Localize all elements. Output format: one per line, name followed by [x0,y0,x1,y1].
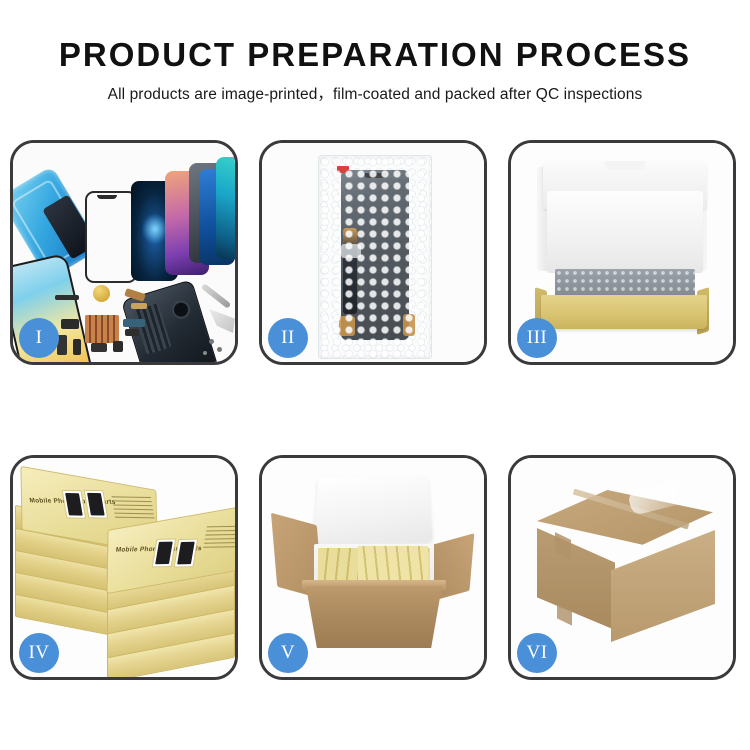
tweezers-tool [209,309,235,333]
foam-lid [313,477,433,543]
box-window-graphic [152,539,177,568]
glass-panel-phone [85,191,137,283]
process-step-1: I [10,140,238,365]
yellow-box-tray [541,295,707,329]
box-spec-lines [202,526,235,557]
speaker-part [93,285,110,302]
process-step-6: VI [508,455,736,680]
screen-connector [403,314,415,336]
step-badge-1: I [19,318,59,358]
phone-notch [364,173,386,178]
screw-part [209,339,214,344]
process-step-2: II [259,140,487,365]
box-window-graphic [84,490,109,519]
process-step-4: Mobile Phone Spare Parts Mobile Phone Sp… [10,455,238,680]
step-badge-6: VI [517,633,557,673]
module-part [61,319,79,329]
screen-connector [339,316,355,336]
connector-part [125,329,139,336]
qc-sticker [337,166,349,173]
box-window-graphic [174,539,199,568]
step-badge-4: IV [19,633,59,673]
bubble-wrap-bag [318,155,432,359]
screen-ic-chip [341,244,361,258]
box-window-graphic [62,490,87,519]
slim-flex-part [73,339,81,355]
vibrator-part [113,341,123,352]
chip-array-part [85,315,119,343]
product-preparation-infographic: PRODUCT PREPARATION PROCESS All products… [0,0,750,750]
carton-right-face [611,530,715,642]
screw-part [203,351,207,355]
carton-front-panel [306,586,442,648]
blue-ribbon-part [123,319,145,327]
flex-cable-part [55,295,79,300]
screwdriver-tool [201,283,231,309]
process-step-5: V [259,455,487,680]
screw-part [217,347,222,352]
step-badge-3: III [517,318,557,358]
screen-flex-cable [343,228,357,314]
process-step-grid: I II [0,0,750,750]
step-badge-2: II [268,318,308,358]
process-step-3: III [508,140,736,365]
step-badge-5: V [268,633,308,673]
carton-left-face [537,528,615,630]
foam-sheet [547,191,703,273]
camera-module-part [91,343,107,352]
gold-flex-part [131,303,147,309]
teal-wave-phone [216,157,235,259]
